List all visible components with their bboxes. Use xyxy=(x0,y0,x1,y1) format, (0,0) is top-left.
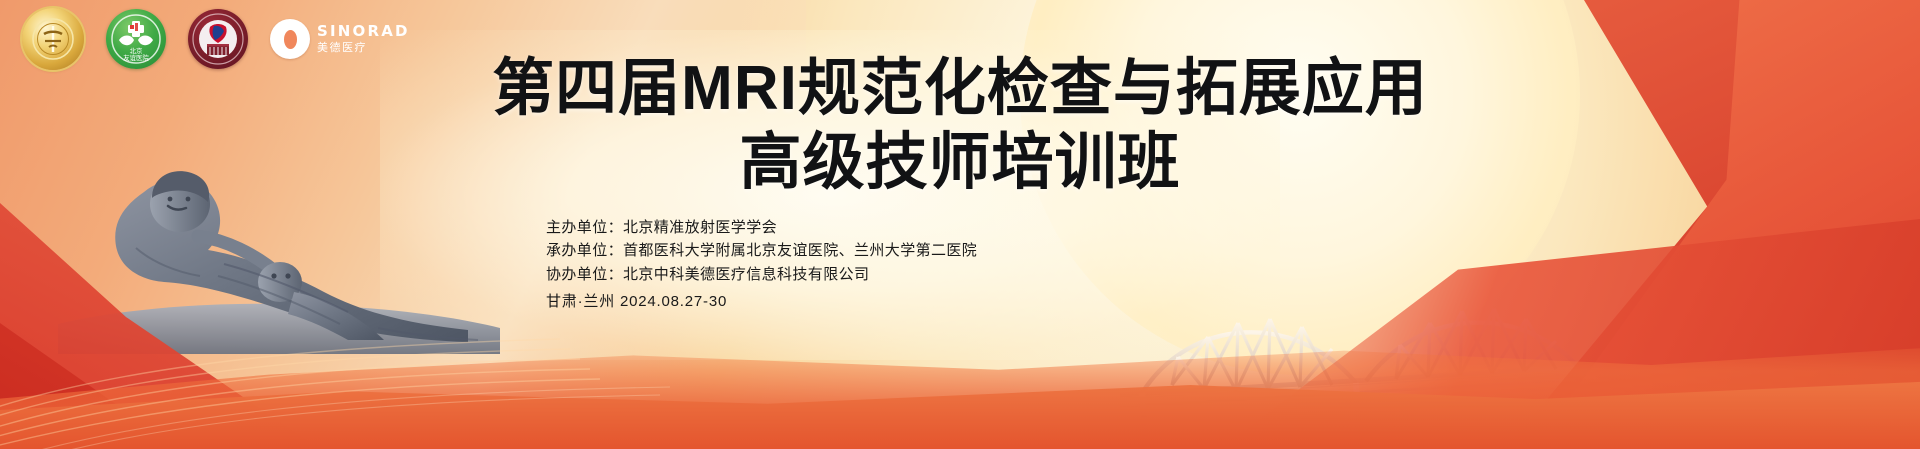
beijing-precision-radiology-society-logo xyxy=(22,8,84,70)
sinorad-brand-name-cn: 美德医疗 xyxy=(317,43,410,54)
location-and-date: 甘肃·兰州 2024.08.27-30 xyxy=(546,290,977,313)
organizing-institutions: 承办单位：首都医科大学附属北京友谊医院、兰州大学第二医院 xyxy=(546,239,977,262)
host-organization: 主办单位：北京精准放射医学学会 xyxy=(546,216,977,239)
sinorad-pupil-shape xyxy=(284,30,297,49)
conference-banner: 北京 友谊医院 SINORAD xyxy=(0,0,1920,449)
green-dove-cross-icon: 北京 友谊医院 xyxy=(111,14,161,64)
sinorad-brand-name: SINORAD xyxy=(317,24,410,39)
sinorad-mark-icon xyxy=(270,19,310,59)
sponsor-logos: 北京 友谊医院 SINORAD xyxy=(22,8,410,70)
conference-info-block: 主办单位：北京精准放射医学学会 承办单位：首都医科大学附属北京友谊医院、兰州大学… xyxy=(546,216,977,313)
svg-text:友谊医院: 友谊医院 xyxy=(123,53,149,62)
sinorad-wordmark: SINORAD 美德医疗 xyxy=(317,24,410,54)
sinorad-logo: SINORAD 美德医疗 xyxy=(270,19,410,59)
coorganizing-institution: 协办单位：北京中科美德医疗信息科技有限公司 xyxy=(546,263,977,286)
beijing-friendship-hospital-logo: 北京 友谊医院 xyxy=(106,9,166,69)
maroon-emblem-icon xyxy=(192,13,244,65)
gold-emblem-icon xyxy=(31,17,75,61)
lanzhou-university-second-hospital-logo xyxy=(188,9,248,69)
